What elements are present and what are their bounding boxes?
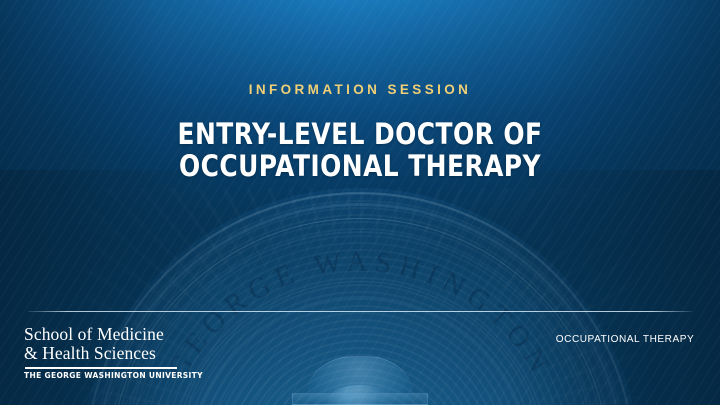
program-label: OCCUPATIONAL THERAPY	[556, 333, 694, 345]
logo-divider	[25, 367, 177, 369]
slide-kicker: INFORMATION SESSION	[0, 82, 720, 97]
gw-smhs-logo: School of Medicine & Health Sciences THE…	[24, 325, 224, 380]
logo-university-name: THE GEORGE WASHINGTON UNIVERSITY	[24, 371, 212, 380]
slide-title: ENTRY-LEVEL DOCTOR OF OCCUPATIONAL THERA…	[50, 118, 669, 182]
footer-divider	[28, 311, 692, 312]
logo-school-line-2: & Health Sciences	[24, 344, 224, 363]
slide-title-line-2: OCCUPATIONAL THERAPY	[50, 150, 669, 182]
logo-school-line-1: School of Medicine	[24, 324, 164, 344]
presentation-slide: GEORGE WASHINGTON INFORMATION SESSION EN…	[0, 0, 720, 405]
slide-title-line-1: ENTRY-LEVEL DOCTOR OF	[50, 118, 669, 150]
logo-school-name: School of Medicine & Health Sciences	[24, 325, 224, 363]
